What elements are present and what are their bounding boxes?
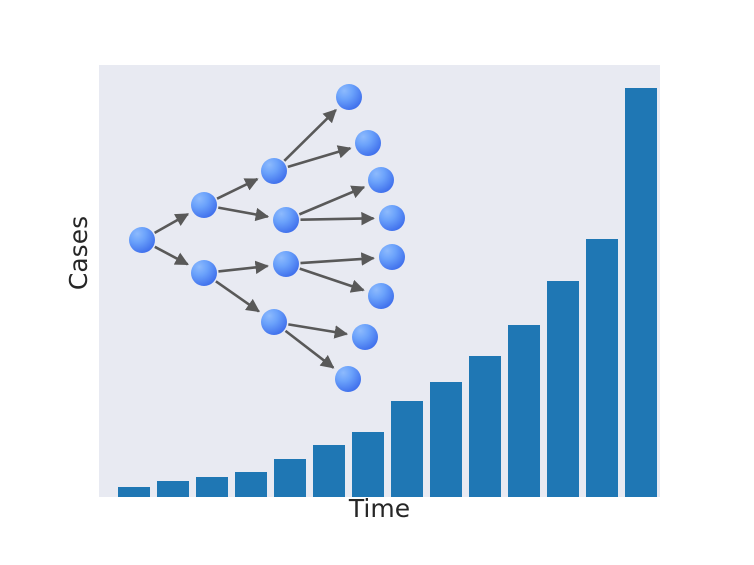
bar bbox=[586, 239, 618, 497]
y-axis-label: Cases bbox=[62, 173, 96, 333]
bar bbox=[391, 401, 423, 497]
plot-area bbox=[99, 65, 660, 497]
x-axis-label: Time bbox=[99, 492, 660, 526]
bar bbox=[430, 382, 462, 497]
figure-canvas: Cases Time bbox=[0, 0, 754, 565]
bar bbox=[313, 445, 345, 497]
bar bbox=[469, 356, 501, 497]
bar bbox=[352, 432, 384, 497]
bar bbox=[547, 281, 579, 497]
bar bbox=[625, 88, 657, 497]
bar bbox=[508, 325, 540, 497]
